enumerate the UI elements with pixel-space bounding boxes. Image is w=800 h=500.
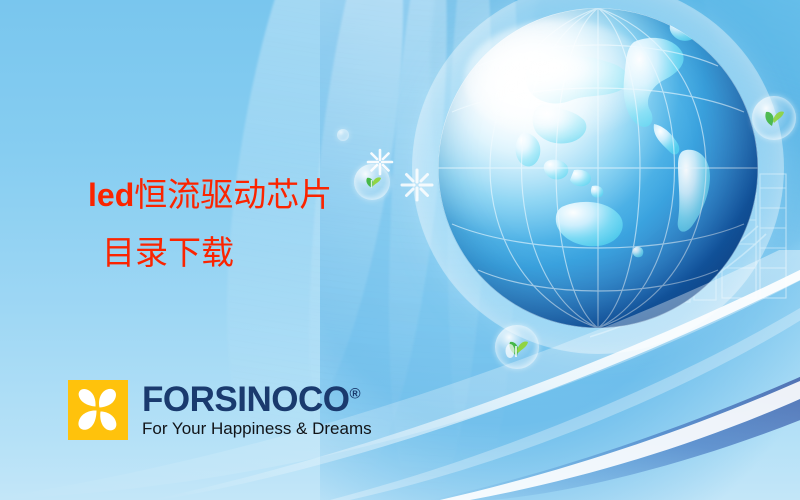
ribbon-swirl-c — [376, 0, 504, 500]
headline-latin: led — [88, 177, 134, 213]
earth-globe-icon — [438, 8, 758, 328]
diagonal-bands — [0, 250, 800, 500]
registered-trademark-icon: ® — [349, 385, 360, 402]
bubble-with-green-sprout-icon — [495, 325, 539, 369]
logo-tagline: For Your Happiness & Dreams — [142, 419, 372, 438]
bubble-with-green-sprout-icon — [752, 96, 796, 140]
four-petal-pinwheel-icon — [68, 380, 128, 440]
logo-wordmark-text: FORSINOCO — [142, 380, 349, 419]
headline-cjk: 恒流驱动芯片 — [134, 175, 332, 214]
headline-line-1: led恒流驱动芯片 — [88, 166, 332, 224]
city-skyline-icon — [590, 130, 800, 370]
bubble-with-green-sprout-icon — [354, 164, 390, 200]
bubble-icon — [337, 129, 349, 141]
background-swirl-top-right — [530, 0, 800, 270]
background-swirl-deep — [390, 0, 765, 398]
logo-wordmark: FORSINOCO® — [142, 383, 372, 417]
headline-line-2: 目录下载 — [102, 224, 332, 282]
starburst-icon — [366, 148, 394, 181]
background-wash — [320, 0, 800, 500]
ribbon-swirl-d — [443, 0, 523, 481]
page-title: led恒流驱动芯片 目录下载 — [88, 166, 332, 282]
promo-banner: led恒流驱动芯片 目录下载 FORSINOCO® For Your Happi… — [0, 0, 800, 500]
starburst-icon — [400, 168, 434, 207]
brand-logo: FORSINOCO® For Your Happiness & Dreams — [68, 380, 372, 440]
logo-text-block: FORSINOCO® For Your Happiness & Dreams — [142, 383, 372, 438]
